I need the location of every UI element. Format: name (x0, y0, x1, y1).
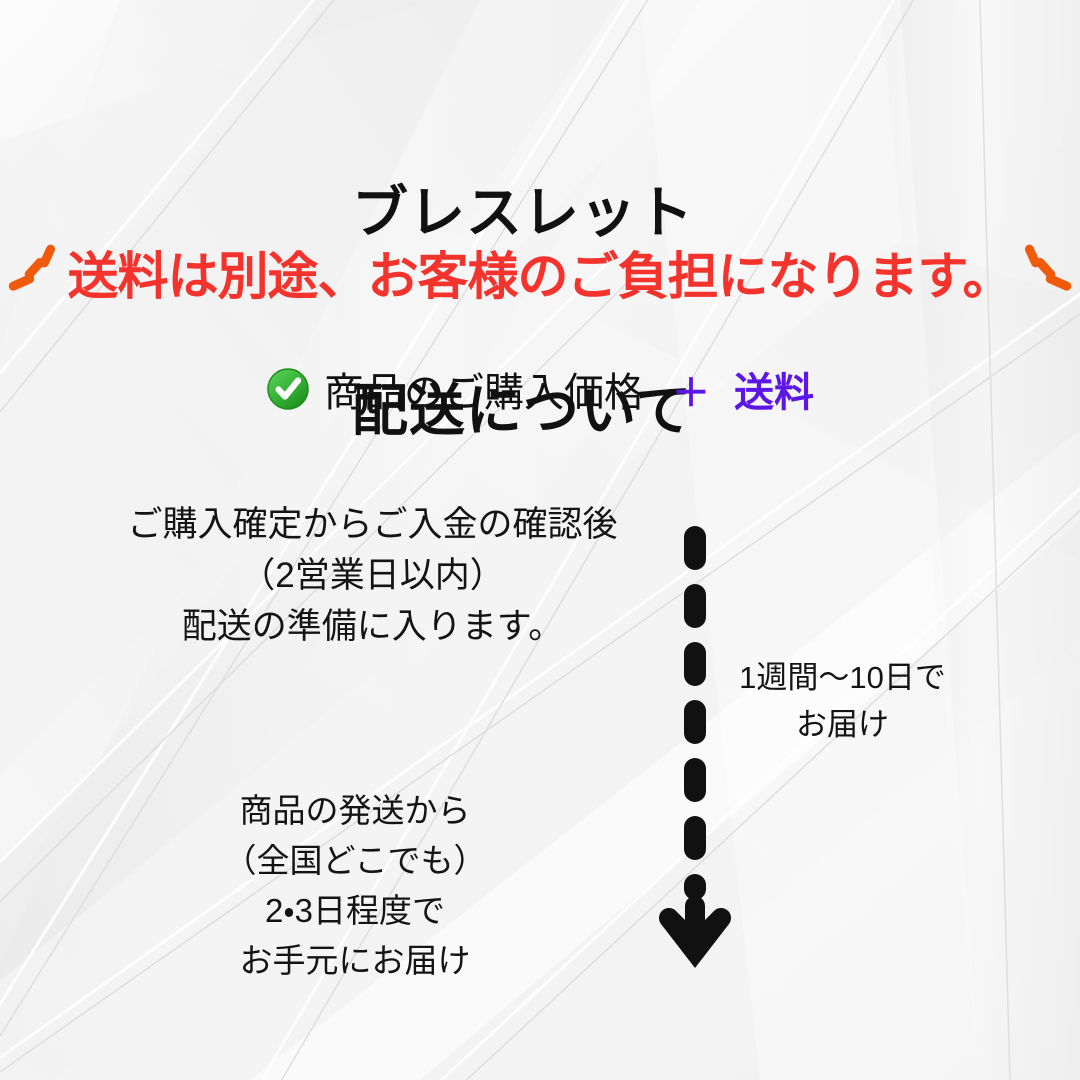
title-line-1: ブレスレット (352, 180, 694, 246)
step2-text: 商品の発送から （全国どこでも） 2・3日程度で お手元にお届け (200, 786, 510, 987)
step1-text: ご購入確定からご入金の確認後 （2営業日以内） 配送の準備に入ります。 (80, 500, 665, 652)
delivery-duration-text: 1週間〜10日で お届け (715, 655, 970, 748)
plus-sign: ＋ (672, 362, 710, 417)
page-title: ブレスレット 配送について (352, 48, 694, 577)
headline-text: 送料は別途、お客様のご負担になります。 (68, 249, 1013, 305)
poster-canvas: ブレスレット 配送について 送料は別途、お客様のご負担になります。 商品のご購入… (0, 0, 1080, 1080)
price-formula-row: 商品のご購入価格 ＋ 送料 (0, 360, 1080, 418)
sparkle-marks-left-icon (14, 242, 60, 312)
purchase-price-label: 商品のご購入価格 (324, 360, 644, 418)
sparkle-marks-right-icon (1020, 242, 1066, 312)
green-check-circle-icon (266, 367, 310, 411)
shipping-fee-headline: 送料は別途、お客様のご負担になります。 (0, 242, 1080, 312)
shipping-fee-label: 送料 (734, 360, 814, 418)
